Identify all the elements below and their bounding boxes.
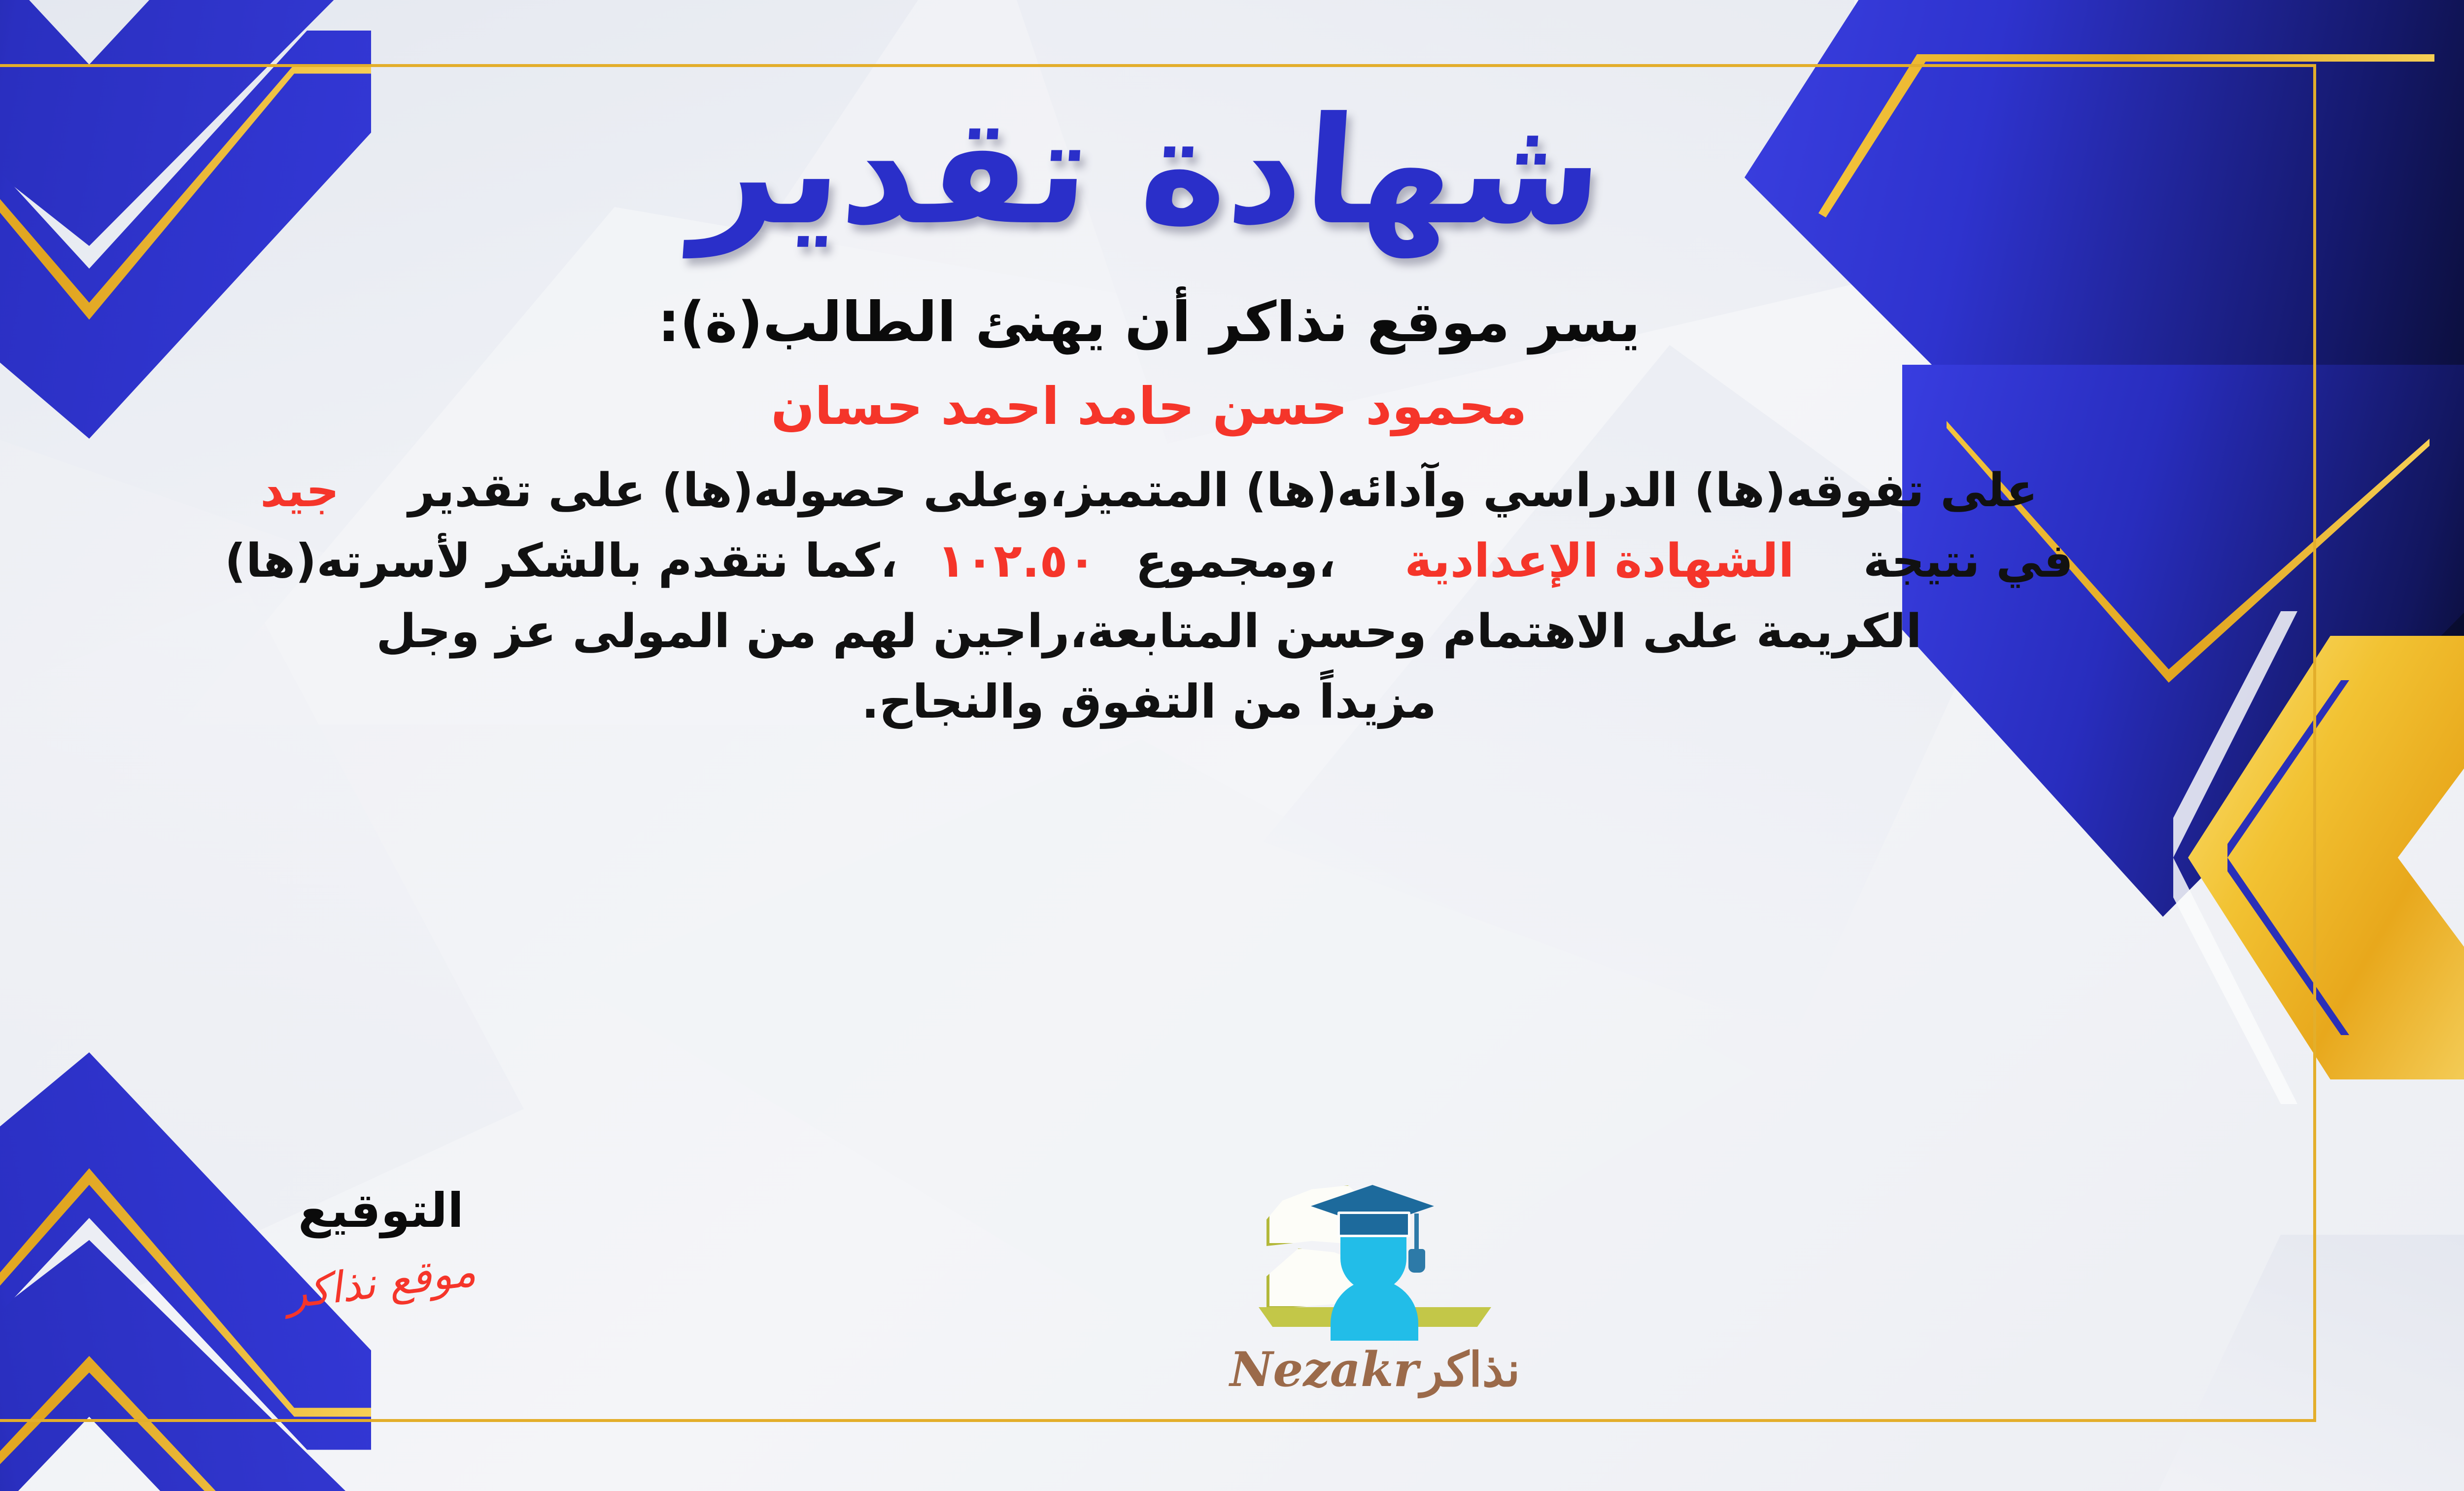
certificate-canvas: شهادة تقدير يسر موقع نذاكر أن يهنئ الطال… xyxy=(0,0,2464,1491)
result-prefix: في نتيجة xyxy=(1863,534,2073,588)
brand-name: نذاكرNezakr xyxy=(1230,1342,1520,1397)
exam-name: الشهادة الإعدادية xyxy=(1404,534,1794,588)
total-label: ،ومجموع xyxy=(1135,534,1335,588)
certificate-content: شهادة تقدير يسر موقع نذاكر أن يهنئ الطال… xyxy=(1,74,2296,1412)
body-line-4: مزيداً من التفوق والنجاح. xyxy=(1,667,2296,738)
certificate-body: على تفوقه(ها) الدراسي وآدائه(ها) المتميز… xyxy=(1,456,2296,738)
brand-name-arabic: نذاكر xyxy=(1420,1342,1520,1397)
student-name: محمود حسن حامد احمد حسان xyxy=(771,376,1527,436)
body-line-3: الكريمة على الاهتمام وحسن المتابعة،راجين… xyxy=(1,597,2296,667)
cap-band-icon xyxy=(1337,1212,1410,1237)
signature-script: موقع نذاكر xyxy=(283,1247,478,1318)
student-head-icon xyxy=(1340,1228,1406,1291)
thanks-prefix: ،كما نتقدم بالشكر لأسرته(ها) xyxy=(225,534,898,588)
graduation-book-icon xyxy=(1266,1183,1483,1331)
achievement-text: على تفوقه(ها) الدراسي وآدائه(ها) المتميز… xyxy=(409,464,2038,518)
certificate-footer: التوقيع موقع نذاكر نذاكرNezakr xyxy=(1,1183,2296,1397)
brand-logo: نذاكرNezakr xyxy=(1153,1183,1597,1397)
signature-block: التوقيع موقع نذاكر xyxy=(159,1183,603,1307)
body-line-2: في نتيجةالشهادة الإعدادية،ومجموع١٠٢.٥٠،ك… xyxy=(1,526,2296,597)
cap-tassel-bell-icon xyxy=(1408,1249,1425,1273)
total-score: ١٠٢.٥٠ xyxy=(937,534,1096,588)
body-line-1: على تفوقه(ها) الدراسي وآدائه(ها) المتميز… xyxy=(1,456,2296,526)
certificate-title: شهادة تقدير xyxy=(689,94,1608,249)
greeting-text: يسر موقع نذاكر أن يهنئ الطالب(ة): xyxy=(658,290,1641,354)
cap-tassel-icon xyxy=(1414,1214,1419,1252)
signature-label: التوقيع xyxy=(298,1183,464,1238)
brand-name-latin: Nezakr xyxy=(1230,1342,1418,1397)
grade-value: جيد xyxy=(260,464,339,518)
